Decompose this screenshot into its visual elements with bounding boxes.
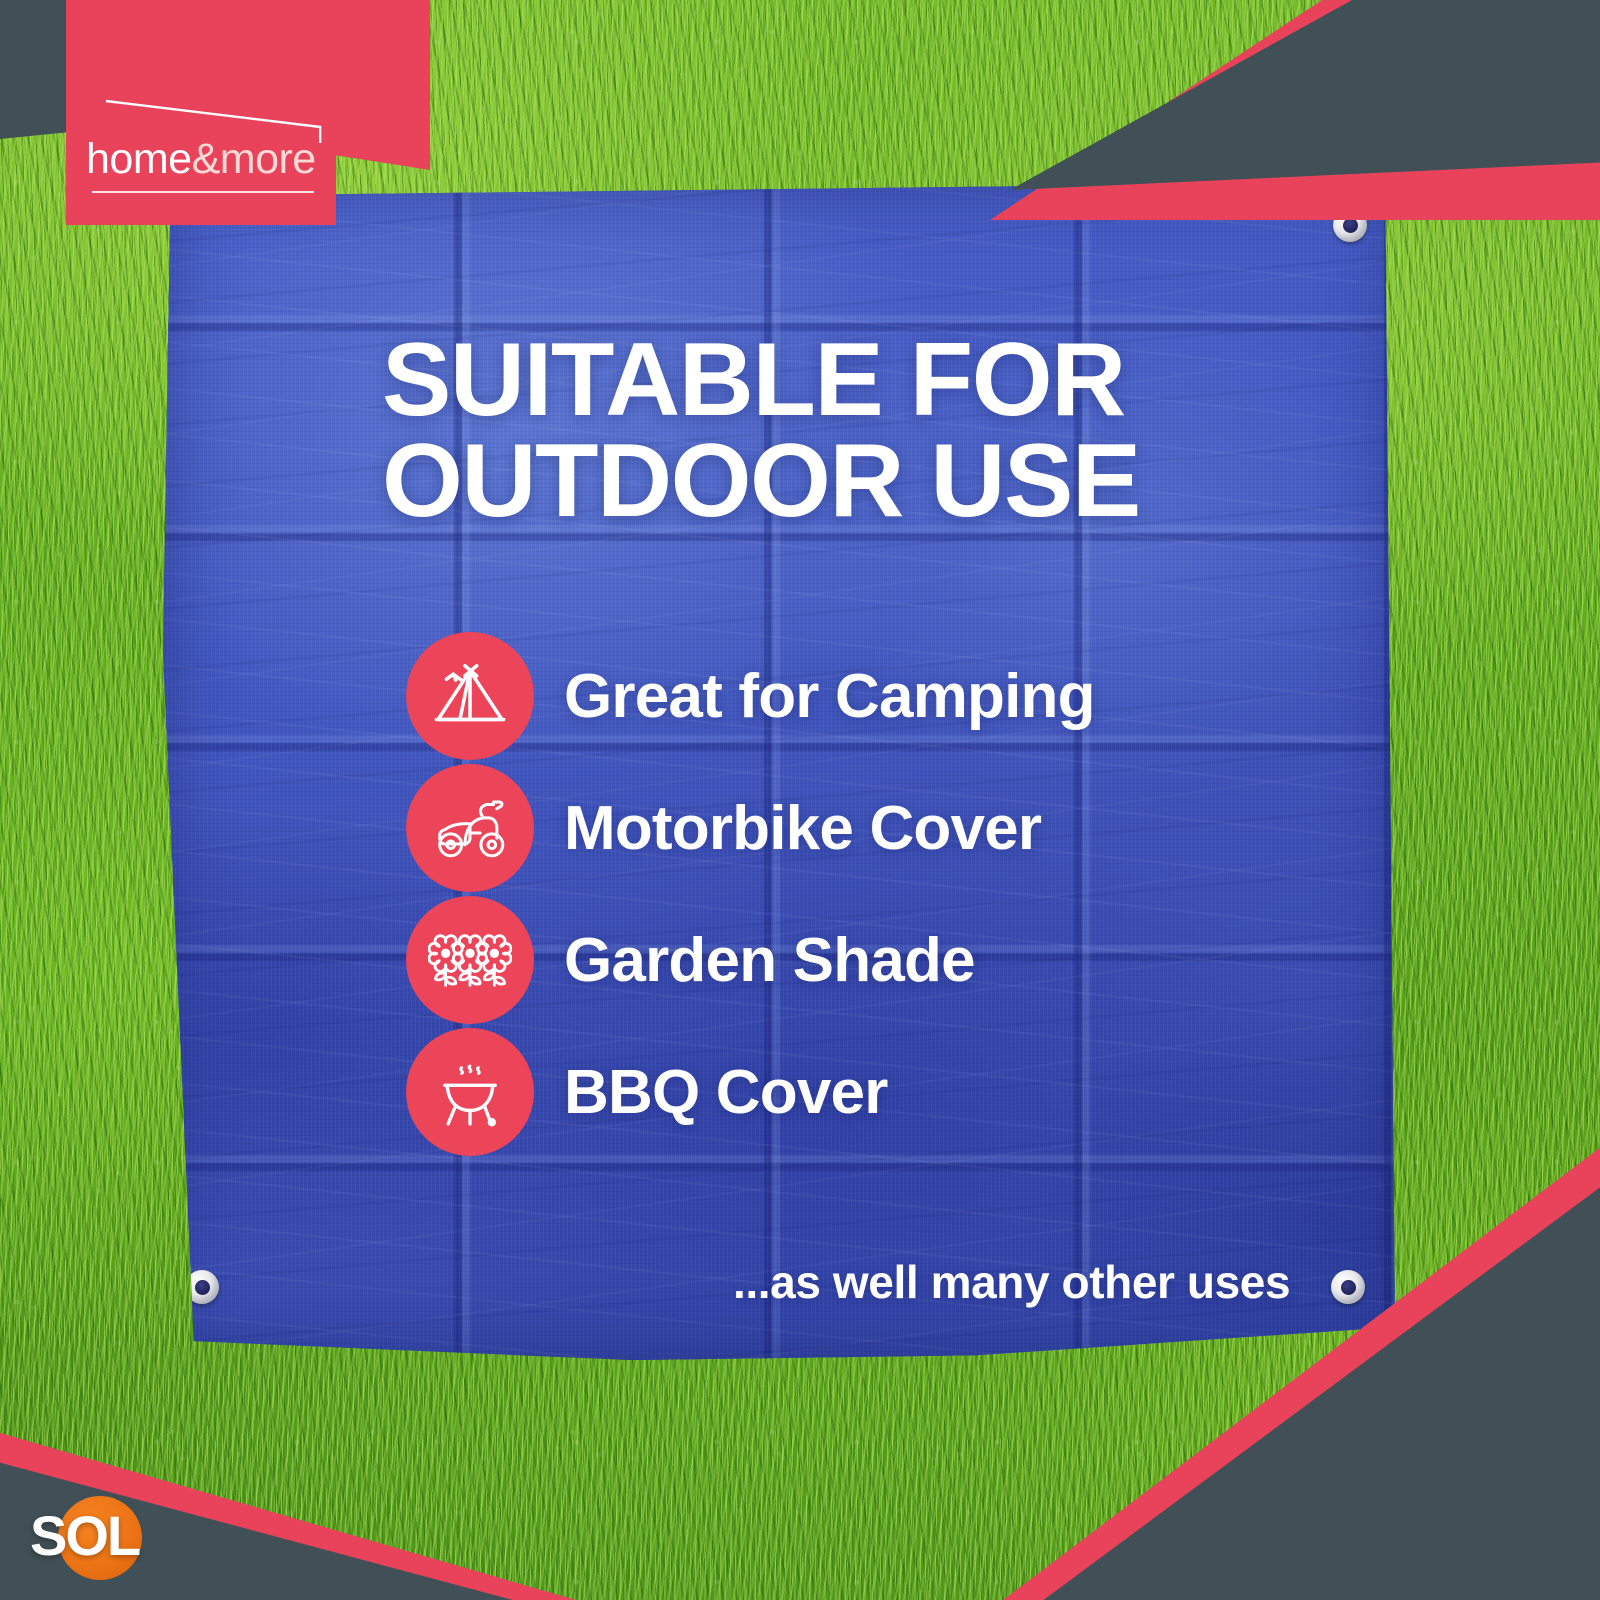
feature-item: BBQ Cover bbox=[406, 1028, 1095, 1156]
brand-logo-text-home: home bbox=[86, 135, 192, 183]
sol-logo-text: SOL bbox=[30, 1508, 180, 1564]
feature-label: BBQ Cover bbox=[564, 1057, 888, 1128]
brand-logo-underline bbox=[92, 191, 314, 193]
brand-logo-inner: home&more bbox=[80, 87, 324, 207]
headline-line-2: OUTDOOR USE bbox=[382, 431, 1282, 532]
product-marketing-image: home&more SUITABLE FOR OUTDOOR USE bbox=[0, 0, 1600, 1600]
scooter-icon bbox=[406, 764, 534, 892]
flowers-icon bbox=[406, 896, 534, 1024]
sol-logo: SOL bbox=[30, 1494, 180, 1582]
feature-item: Garden Shade bbox=[406, 896, 1095, 1024]
feature-label: Motorbike Cover bbox=[564, 793, 1041, 864]
brand-logo-badge: home&more bbox=[66, 0, 336, 225]
headline-line-1: SUITABLE FOR bbox=[382, 322, 1125, 438]
feature-item: Great for Camping bbox=[406, 632, 1095, 760]
brand-logo-text-more: &more bbox=[192, 135, 316, 183]
grommet-bottom-right bbox=[1331, 1270, 1365, 1304]
tagline: ...as well many other uses bbox=[733, 1255, 1290, 1309]
page-headline: SUITABLE FOR OUTDOOR USE bbox=[382, 330, 1282, 532]
feature-label: Great for Camping bbox=[564, 661, 1095, 732]
brand-logo-text: home&more bbox=[86, 138, 316, 181]
feature-list: Great for Camping bbox=[406, 632, 1095, 1160]
feature-item: Motorbike Cover bbox=[406, 764, 1095, 892]
bbq-grill-icon bbox=[406, 1028, 534, 1156]
grommet-top-right bbox=[1333, 208, 1367, 242]
feature-label: Garden Shade bbox=[564, 925, 975, 996]
tent-icon bbox=[406, 632, 534, 760]
